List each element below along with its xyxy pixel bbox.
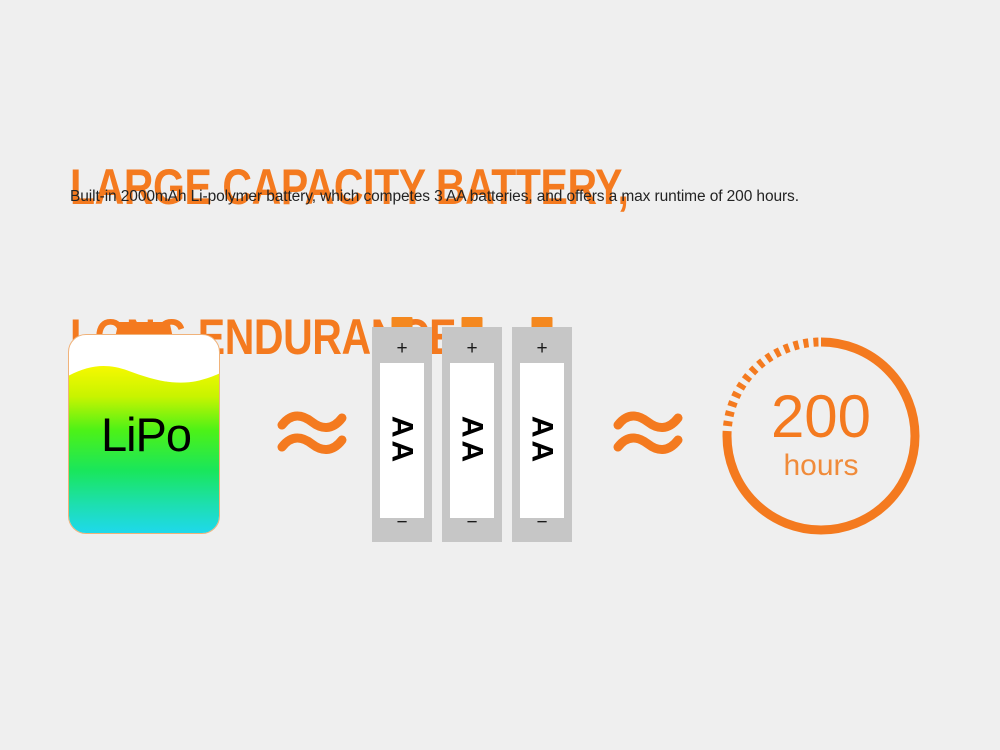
aa-battery-plus-symbol: + [442,339,502,358]
runtime-value: 200 [771,388,871,446]
aa-battery-body: + AA − [512,327,572,542]
aa-battery-plus-symbol: + [372,339,432,358]
poster-root: LARGE CAPACITY BATTERY, LONG ENDURANCE B… [0,0,1000,750]
battery-comparison-diagram: LiPo + AA − [0,300,1000,560]
approximately-equal-icon-2 [608,395,688,469]
lipo-battery-label: LiPo [68,334,220,534]
runtime-gauge: 200 hours [713,328,929,544]
lipo-battery-graphic: LiPo [68,322,220,534]
aa-battery-3: + AA − [512,317,572,542]
aa-battery-minus-symbol: − [372,516,432,530]
runtime-unit: hours [783,450,858,482]
aa-battery-plus-symbol: + [512,339,572,358]
aa-battery-minus-symbol: − [512,516,572,530]
page-subtitle: Built-in 2000mAh Li-polymer battery, whi… [70,186,950,208]
aa-battery-label-window: AA [520,363,564,518]
aa-battery-label: AA [465,419,620,463]
aa-battery-group: + AA − + AA − [372,317,572,542]
aa-battery-minus-symbol: − [442,516,502,530]
runtime-gauge-text: 200 hours [713,328,929,544]
